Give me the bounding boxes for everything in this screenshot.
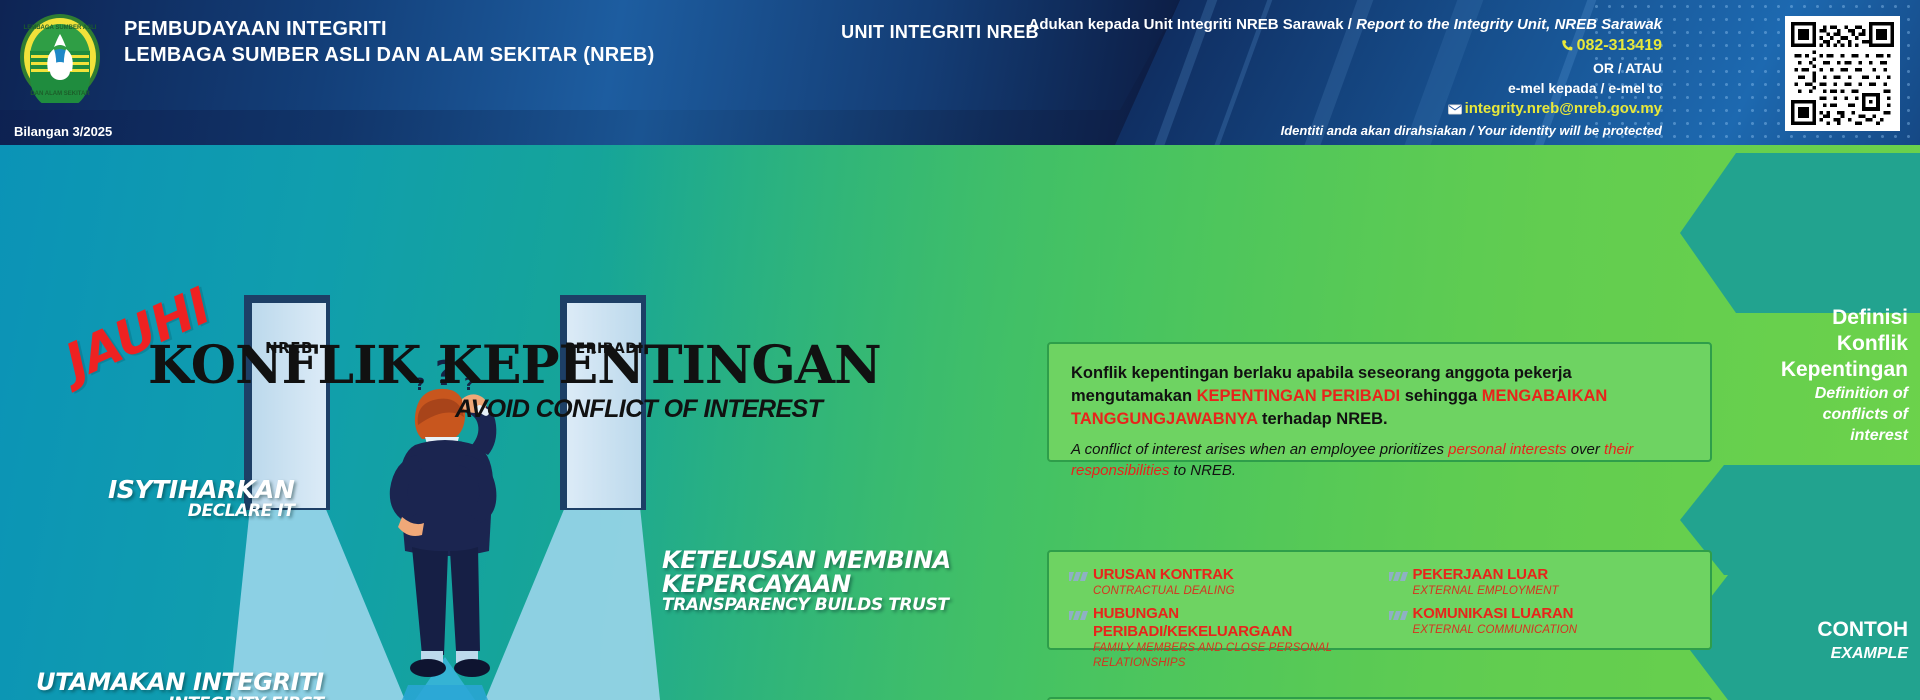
definition-en-red1: personal interests (1448, 441, 1566, 458)
tab-definition-en-line3: interest (1690, 425, 1908, 446)
definition-en-b: over (1567, 441, 1605, 458)
example-ms: KOMUNIKASI LUARAN (1413, 605, 1578, 623)
phone-icon (1561, 37, 1574, 58)
hero-title: KONFLIK KEPENTINGAN (148, 335, 881, 396)
callout-declare-en: DECLARE IT (108, 502, 295, 520)
tab-example-en: EXAMPLE (1690, 643, 1908, 664)
example-en: EXTERNAL EMPLOYMENT (1413, 584, 1559, 599)
tab-example-ms: CONTOH (1690, 617, 1908, 643)
qr-code[interactable] (1785, 16, 1900, 131)
infographic-poster: LEMBAGA SUMBER ASLI DAN ALAM SEKITAR PEM… (0, 0, 1920, 700)
hero-subtitle: AVOID CONFLICT OF INTEREST (455, 395, 822, 424)
tab-definition-en-line2: conflicts of (1690, 404, 1908, 425)
example-item: HUBUNGAN PERIBADI/KEKELUARGAAN FAMILY ME… (1069, 605, 1371, 671)
phone-row: 082-313419 (942, 35, 1662, 58)
example-ms: URUSAN KONTRAK (1093, 566, 1235, 584)
card-examples: URUSAN KONTRAK CONTRACTUAL DEALING HUBUN… (1047, 550, 1712, 650)
or-atau: OR / ATAU (942, 58, 1662, 78)
report-line: Adukan kepada Unit Integriti NREB Sarawa… (942, 14, 1662, 35)
callout-transparency-en: TRANSPARENCY BUILDS TRUST (662, 596, 951, 615)
definition-en: A conflict of interest arises when an em… (1071, 439, 1688, 481)
email-address[interactable]: integrity.nreb@nreb.gov.my (1465, 100, 1662, 117)
callout-transparency-ms-line1: KETELUSAN MEMBINA (662, 548, 951, 572)
email-label: e-mel kepada / e-mel to (942, 78, 1662, 98)
phone-number[interactable]: 082-313419 (1577, 37, 1662, 54)
report-line-ms: Adukan kepada Unit Integriti NREB Sarawa… (1029, 16, 1357, 33)
examples-column-right: PEKERJAAN LUAR EXTERNAL EMPLOYMENT KOMUN… (1389, 566, 1691, 677)
definition-ms: Konflik kepentingan berlaku apabila sese… (1071, 362, 1688, 431)
callout-declare-ms: ISYTIHARKAN (108, 477, 295, 502)
tab-definition-ms-line1: Definisi (1690, 305, 1908, 331)
tab-definition-en-line1: Definition of (1690, 383, 1908, 404)
example-item: PEKERJAAN LUAR EXTERNAL EMPLOYMENT (1389, 566, 1691, 599)
tab-definition-ms-line2: Konflik (1690, 331, 1908, 357)
report-contact-block: Adukan kepada Unit Integriti NREB Sarawa… (942, 14, 1662, 141)
definition-en-a: A conflict of interest arises when an em… (1071, 441, 1448, 458)
examples-column-left: URUSAN KONTRAK CONTRACTUAL DEALING HUBUN… (1069, 566, 1371, 677)
nreb-logo: LEMBAGA SUMBER ASLI DAN ALAM SEKITAR (14, 11, 106, 103)
svg-text:LEMBAGA SUMBER ASLI: LEMBAGA SUMBER ASLI (24, 25, 97, 31)
example-item: URUSAN KONTRAK CONTRACTUAL DEALING (1069, 566, 1371, 599)
arrows-icon (1069, 569, 1093, 587)
org-title-line1: PEMBUDAYAAN INTEGRITI (124, 16, 654, 42)
callout-transparency-ms-line2: KEPERCAYAAN (662, 572, 951, 596)
example-en: FAMILY MEMBERS AND CLOSE PERSONAL RELATI… (1093, 641, 1371, 671)
privacy-note: Identiti anda akan dirahsiakan / Your id… (942, 121, 1662, 141)
example-item: KOMUNIKASI LUARAN EXTERNAL COMMUNICATION (1389, 605, 1691, 638)
definition-ms-red1: KEPENTINGAN PERIBADI (1197, 387, 1401, 405)
tab-definition-ms-line3: Kepentingan (1690, 357, 1908, 383)
callout-integrity-ms: UTAMAKAN INTEGRITI (36, 670, 324, 695)
poster-header: LEMBAGA SUMBER ASLI DAN ALAM SEKITAR PEM… (0, 0, 1920, 145)
header-org-title: PEMBUDAYAAN INTEGRITI LEMBAGA SUMBER ASL… (124, 16, 654, 68)
email-row: integrity.nreb@nreb.gov.my (942, 98, 1662, 121)
callout-integrity-first: UTAMAKAN INTEGRITI INTEGRITY FIRST (36, 670, 324, 700)
arrows-icon (1069, 608, 1093, 626)
arrows-icon (1389, 608, 1413, 626)
callout-declare: ISYTIHARKAN DECLARE IT (108, 477, 295, 520)
example-ms: HUBUNGAN PERIBADI/KEKELUARGAAN (1093, 605, 1371, 641)
example-en: EXTERNAL COMMUNICATION (1413, 623, 1578, 638)
example-en: CONTRACTUAL DEALING (1093, 584, 1235, 599)
svg-text:DAN ALAM SEKITAR: DAN ALAM SEKITAR (30, 91, 90, 97)
tab-label-definition: Definisi Konflik Kepentingan Definition … (1690, 305, 1920, 446)
definition-en-c: to NREB. (1169, 462, 1236, 479)
envelope-icon (1448, 100, 1462, 121)
callout-transparency: KETELUSAN MEMBINA KEPERCAYAAN TRANSPAREN… (662, 548, 951, 615)
poster-body: NREB PERIBADI ? ? ? (0, 145, 1920, 700)
report-line-en: Report to the Integrity Unit, NREB Saraw… (1356, 16, 1662, 33)
issue-number: Bilangan 3/2025 (14, 124, 112, 139)
card-definition: Konflik kepentingan berlaku apabila sese… (1047, 342, 1712, 462)
definition-ms-b: sehingga (1400, 387, 1482, 405)
arrows-icon (1389, 569, 1413, 587)
tab-label-example: CONTOH EXAMPLE (1690, 617, 1920, 664)
tab-shape-example (1680, 465, 1920, 575)
example-ms: PEKERJAAN LUAR (1413, 566, 1559, 584)
definition-ms-c: terhadap NREB. (1257, 410, 1387, 428)
org-title-line2: LEMBAGA SUMBER ASLI DAN ALAM SEKITAR (NR… (124, 42, 654, 68)
tab-shape-definition (1680, 153, 1920, 313)
